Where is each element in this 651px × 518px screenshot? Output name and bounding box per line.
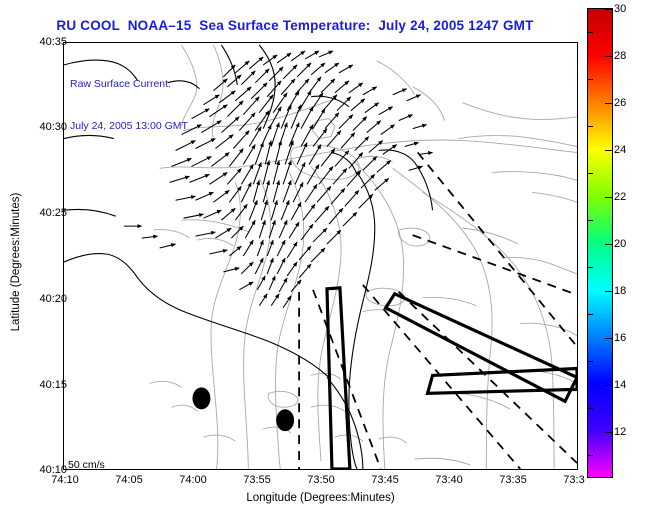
ytick-0: 40:35 bbox=[39, 36, 67, 48]
xtick-1: 74:05 bbox=[115, 474, 143, 486]
station-east-marker bbox=[276, 409, 294, 431]
annotation-line-2: July 24, 2005 13:00 GMT bbox=[70, 119, 188, 133]
cbtick-22: 22 bbox=[614, 191, 626, 203]
sst-map-figure: RU COOL NOAA–15 Sea Surface Temperature:… bbox=[0, 0, 651, 518]
xtick-8: 73:3 bbox=[563, 474, 584, 486]
station-west-marker bbox=[192, 387, 210, 409]
xtick-0: 74:10 bbox=[51, 474, 79, 486]
map-plot-area[interactable]: Raw Surface Current: July 24, 2005 13:00… bbox=[63, 42, 578, 470]
velocity-scale-label: 50 cm/s bbox=[68, 459, 105, 470]
figure-title: RU COOL NOAA–15 Sea Surface Temperature:… bbox=[0, 18, 590, 33]
dash-ray-4 bbox=[363, 285, 520, 469]
wedge-e-mid bbox=[386, 294, 577, 401]
cbtick-20: 20 bbox=[614, 238, 626, 250]
radar-stations bbox=[192, 387, 294, 431]
annotation-line-1: Raw Surface Current: bbox=[70, 77, 188, 91]
coverage-wedges bbox=[327, 288, 577, 469]
dash-ray-1 bbox=[418, 152, 577, 346]
cbtick-24: 24 bbox=[614, 144, 626, 156]
xtick-6: 73:40 bbox=[435, 474, 463, 486]
xtick-2: 74:00 bbox=[179, 474, 207, 486]
cbtick-12: 12 bbox=[614, 426, 626, 438]
cbtick-18: 18 bbox=[614, 285, 626, 297]
cbtick-14: 14 bbox=[614, 379, 626, 391]
dash-ray-3 bbox=[399, 292, 577, 463]
ytick-2: 40:25 bbox=[39, 207, 67, 219]
cbtick-26: 26 bbox=[614, 97, 626, 109]
cbtick-30: 30 bbox=[614, 3, 626, 15]
raw-current-annotation: Raw Surface Current: July 24, 2005 13:00… bbox=[70, 49, 188, 161]
y-axis-label: Latitude (Degrees:Minutes) bbox=[10, 162, 22, 362]
xtick-4: 73:50 bbox=[307, 474, 335, 486]
xtick-3: 73:55 bbox=[243, 474, 271, 486]
ytick-3: 40:20 bbox=[39, 293, 67, 305]
ytick-1: 40:30 bbox=[39, 121, 67, 133]
sst-contours bbox=[150, 45, 577, 469]
xtick-7: 73:35 bbox=[499, 474, 527, 486]
cbtick-28: 28 bbox=[614, 50, 626, 62]
ytick-4: 40:15 bbox=[39, 379, 67, 391]
cbtick-16: 16 bbox=[614, 332, 626, 344]
x-axis-label: Longitude (Degrees:Minutes) bbox=[63, 492, 578, 504]
wedge-ne-upper bbox=[428, 368, 577, 393]
xtick-5: 73:45 bbox=[371, 474, 399, 486]
